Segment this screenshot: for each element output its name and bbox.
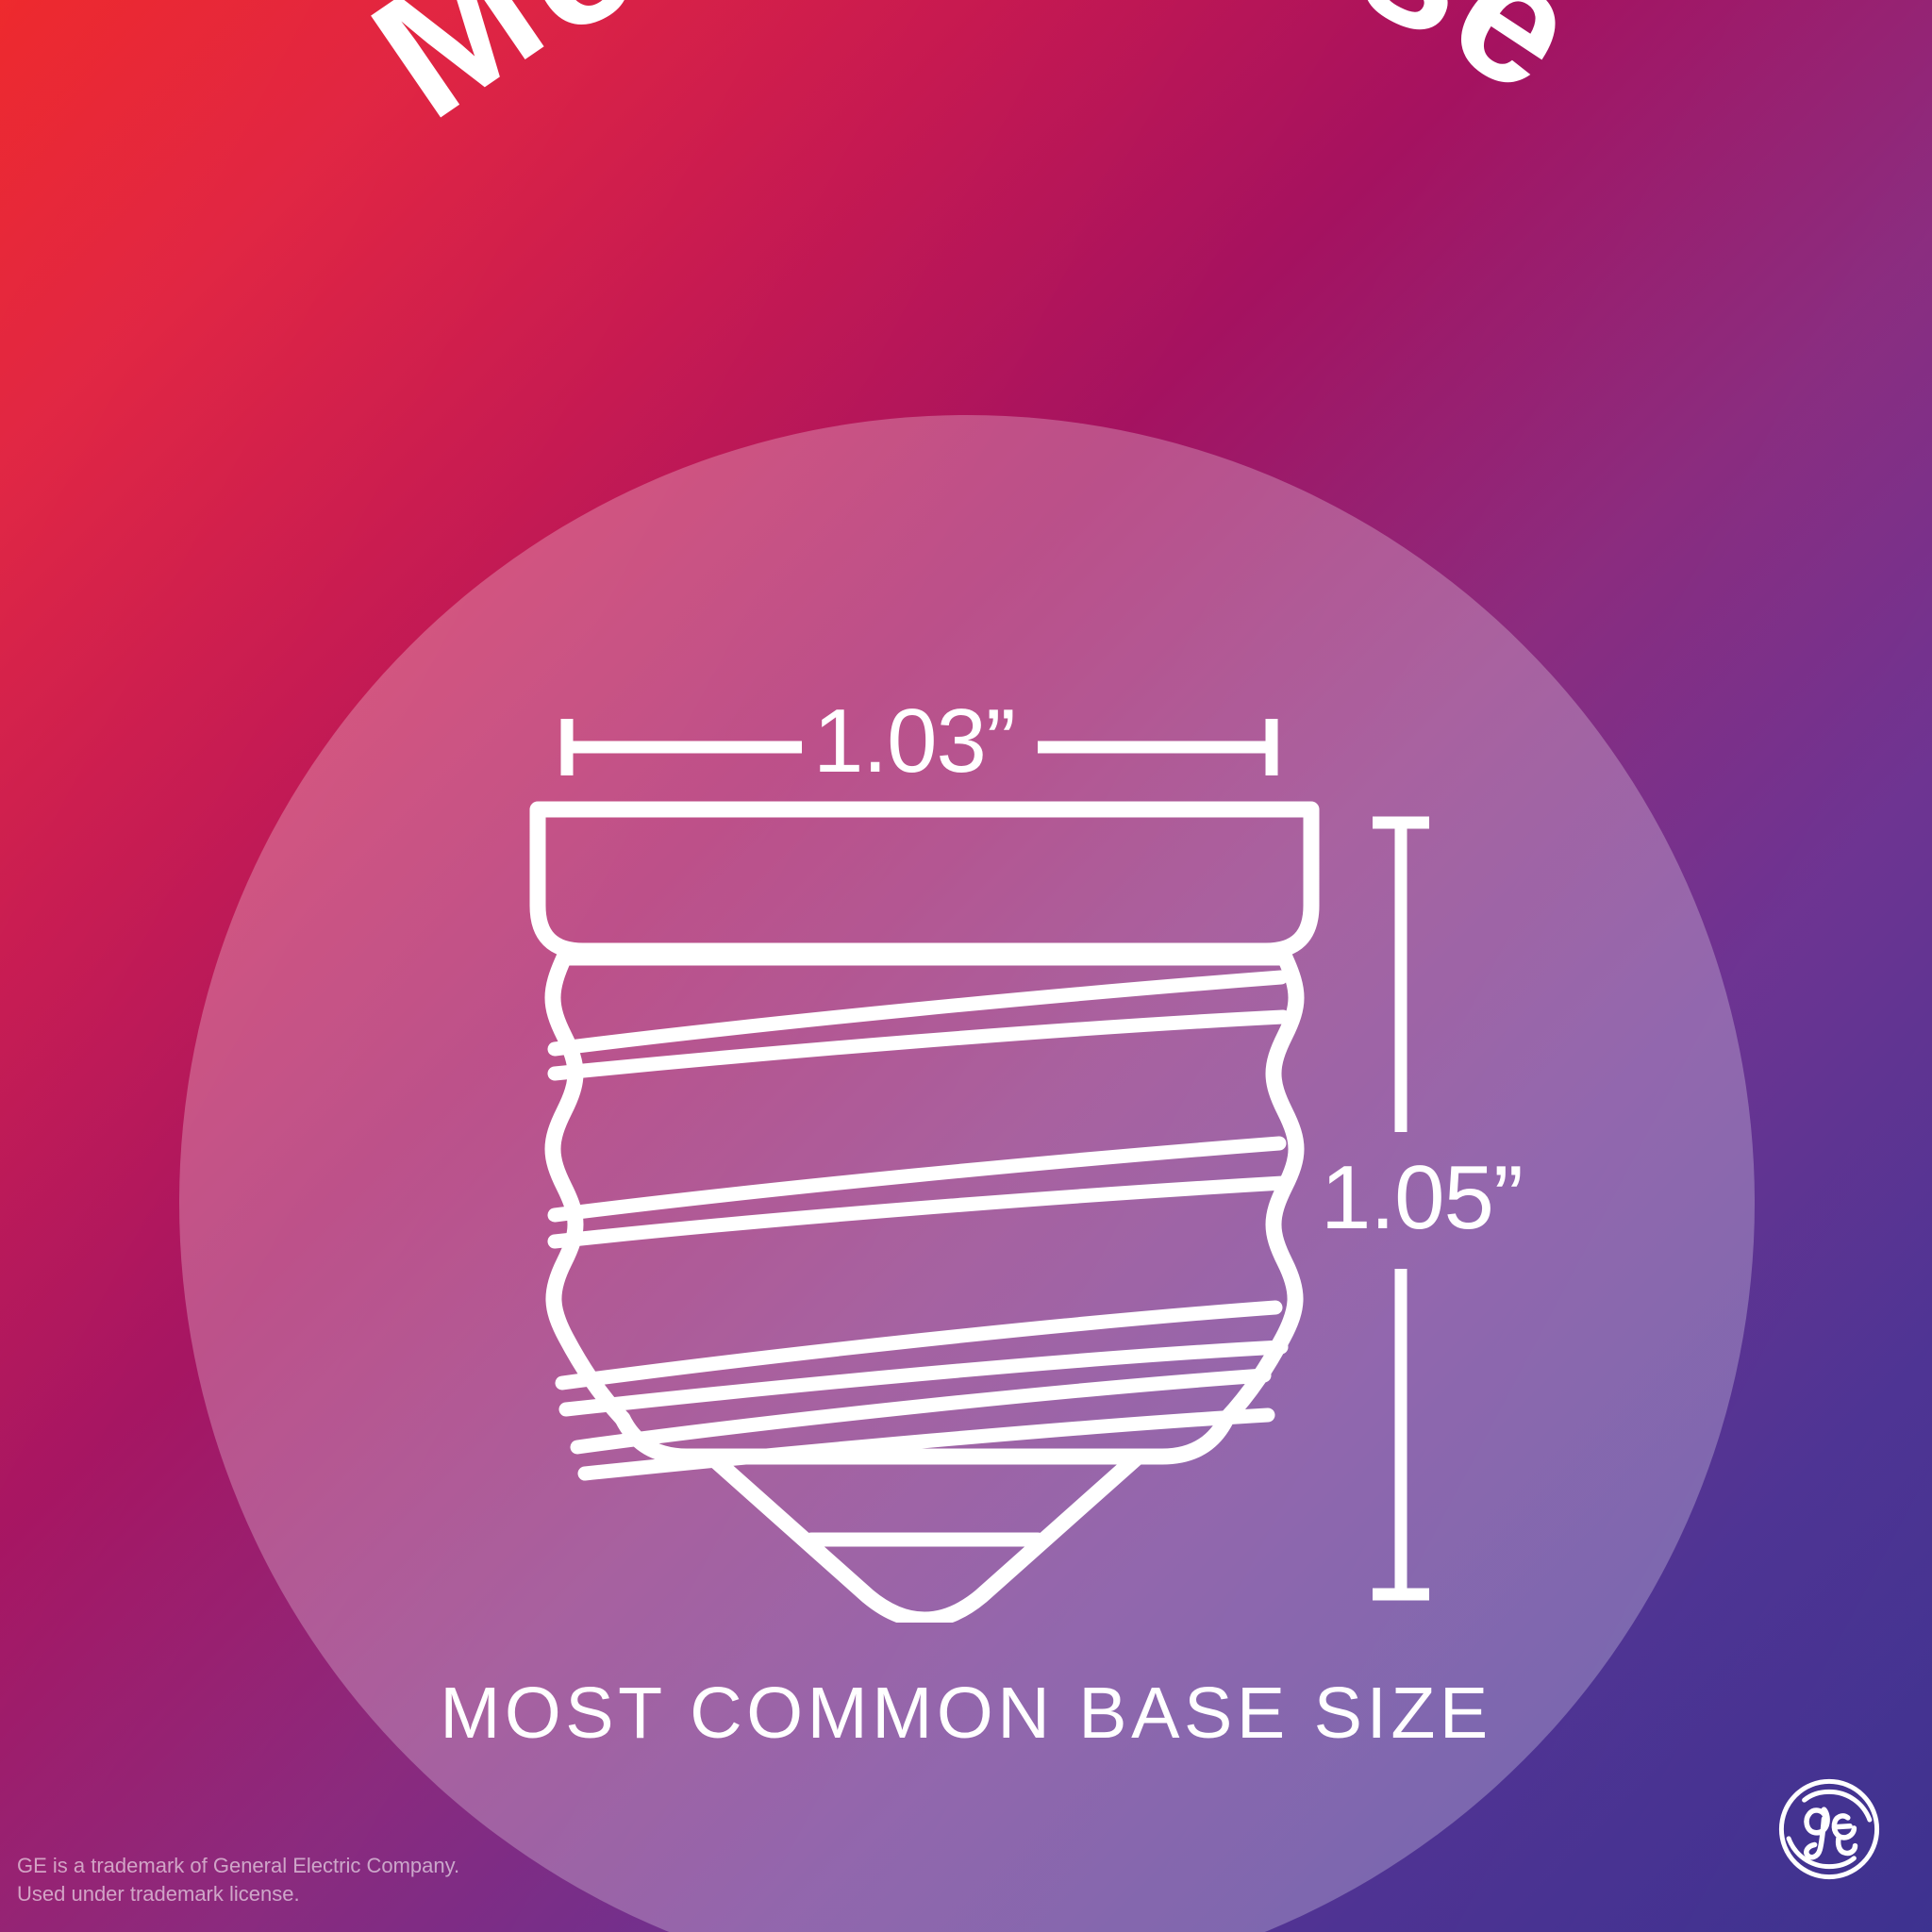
headline-curved: Medium Base — [0, 0, 1932, 528]
ge-monogram-logo — [1777, 1777, 1881, 1881]
height-dimension-label: 1.05” — [1321, 1146, 1523, 1250]
infographic-canvas: Medium Base — [0, 0, 1932, 1932]
bulb-base-icon — [528, 792, 1321, 1623]
legal-footer: GE is a trademark of General Electric Co… — [17, 1852, 459, 1908]
base-size-caption: MOST COMMON BASE SIZE — [0, 1672, 1932, 1756]
page-title: Medium Base — [340, 0, 1614, 156]
width-dimension-label: 1.03” — [813, 690, 1015, 793]
bulb-collar — [538, 809, 1311, 951]
bulb-thread-line-2 — [555, 1017, 1283, 1074]
legal-line-2: Used under trademark license. — [17, 1880, 459, 1908]
bulb-thread-line-8 — [585, 1415, 1268, 1474]
bulb-thread-line-4 — [555, 1183, 1283, 1241]
legal-line-1: GE is a trademark of General Electric Co… — [17, 1852, 459, 1880]
bulb-left-edge — [553, 958, 623, 1419]
